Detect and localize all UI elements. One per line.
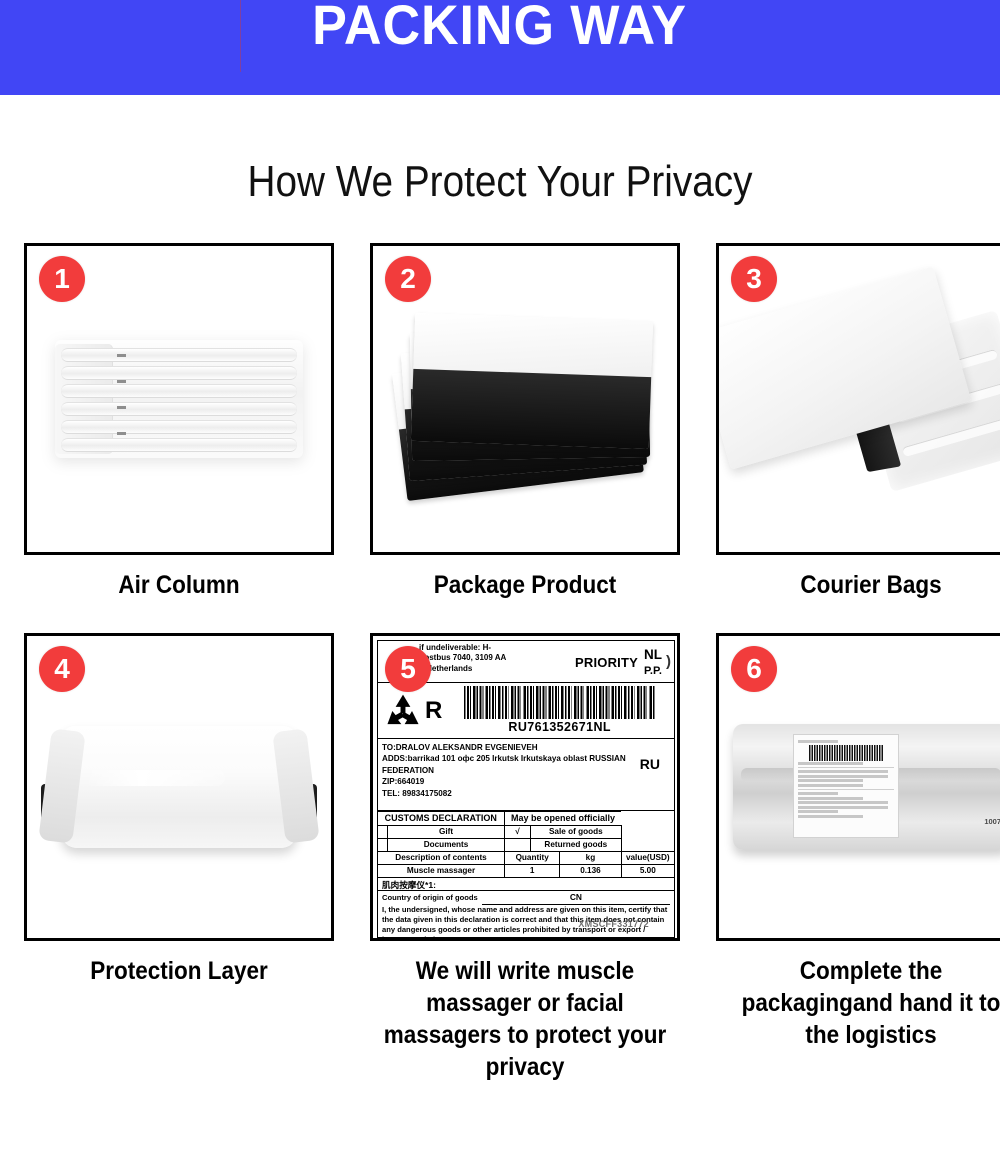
label-watermark: XMSCFF331772	[578, 919, 649, 931]
postage-paid-mark: P.P.	[644, 664, 662, 679]
returned-goods-label: Returned goods	[531, 838, 622, 851]
item-weight: 0.136	[560, 864, 621, 877]
step-image-panel-1: 1	[24, 243, 334, 555]
priority-mark: PRIORITY	[575, 655, 638, 671]
address-zip: ZIP:664019	[382, 776, 640, 787]
step-image-panel-3: 3	[716, 243, 1000, 555]
documents-label: Documents	[388, 838, 505, 851]
col-header-value: value(USD)	[621, 851, 674, 864]
step-caption-6: Complete the packagingand hand it to the…	[723, 955, 1000, 1051]
step-card-1: 1 Air Column	[14, 243, 344, 601]
item-quantity: 1	[505, 864, 560, 877]
step-badge-6: 6	[731, 646, 777, 692]
return-address-line-3: n,Netherlands	[419, 664, 575, 674]
gift-checkmark: √	[505, 825, 531, 838]
parcel-shipping-label	[793, 734, 899, 838]
tracking-number: RU761352671NL	[508, 720, 610, 735]
origin-label: Country of origin of goods	[382, 893, 478, 903]
may-be-opened-note: May be opened officially	[505, 812, 622, 826]
page-title: PACKING WAY	[313, 0, 688, 55]
item-description-chinese: 肌肉按摩仪*1:	[377, 878, 675, 891]
country-code: NL	[644, 646, 662, 664]
step-badge-3: 3	[731, 256, 777, 302]
sale-of-goods-label: Sale of goods	[531, 825, 622, 838]
step-badge-5: 5	[385, 646, 431, 692]
address-tel: TEL: 89834175082	[382, 788, 640, 799]
return-address-line-1: if undeliverable: H-	[419, 643, 575, 653]
bracket-mark: )	[666, 653, 671, 671]
step-image-panel-4: 4	[24, 633, 334, 941]
step-image-panel-5: if undeliverable: H- Postbus 7040, 3109 …	[370, 633, 680, 941]
customs-declaration-table: CUSTOMS DECLARATION May be opened offici…	[377, 811, 675, 878]
section-subtitle: How We Protect Your Privacy	[60, 157, 940, 207]
step-badge-4: 4	[39, 646, 85, 692]
header-bar: PACKING WAY	[0, 0, 1000, 95]
step-image-panel-2: 2	[370, 243, 680, 555]
step-image-panel-6: 6	[716, 633, 1000, 941]
item-description: Muscle massager	[378, 864, 505, 877]
address-line-2: FEDERATION	[382, 765, 640, 776]
addressee-name: TO:DRALOV ALEKSANDR EVGENIEVEH	[382, 742, 640, 753]
item-value: 5.00	[621, 864, 674, 877]
packing-steps-grid: 1 Air Column 2	[0, 243, 1000, 1083]
step-card-5: if undeliverable: H- Postbus 7040, 3109 …	[360, 633, 690, 1083]
step-caption-2: Package Product	[377, 569, 674, 601]
customs-title: CUSTOMS DECLARATION	[378, 812, 505, 826]
tracking-barcode	[464, 686, 656, 719]
address-line-1: ADDS:barrikad 101 офс 205 Irkutsk Irkuts…	[382, 753, 640, 764]
col-header-quantity: Quantity	[505, 851, 560, 864]
recycle-icon	[383, 693, 423, 729]
origin-value: CN	[482, 892, 670, 904]
parcel-label-number: 1007	[984, 817, 1000, 826]
step-caption-4: Protection Layer	[31, 955, 328, 987]
step-badge-2: 2	[385, 256, 431, 302]
col-header-kg: kg	[560, 851, 621, 864]
destination-code: RU	[640, 756, 660, 773]
step-caption-1: Air Column	[31, 569, 328, 601]
returned-goods-box[interactable]	[505, 838, 531, 851]
step-card-2: 2 Package Product	[360, 243, 690, 601]
step-card-3: 3 Courier Bags	[706, 243, 1000, 601]
col-header-description: Description of contents	[378, 851, 505, 864]
return-address-line-2: Postbus 7040, 3109 AA	[419, 653, 575, 663]
step-card-6: 6	[706, 633, 1000, 1083]
step-card-4: 4 Protection Layer	[14, 633, 344, 1083]
recycle-letter: R	[425, 696, 442, 725]
step-badge-1: 1	[39, 256, 85, 302]
gift-label: Gift	[388, 825, 505, 838]
gift-box[interactable]	[378, 825, 388, 838]
step-caption-3: Courier Bags	[723, 569, 1000, 601]
header-hairline	[240, 0, 241, 72]
documents-box[interactable]	[378, 838, 388, 851]
parcel-barcode	[809, 745, 883, 761]
step-caption-5: We will write muscle massager or facial …	[377, 955, 674, 1083]
